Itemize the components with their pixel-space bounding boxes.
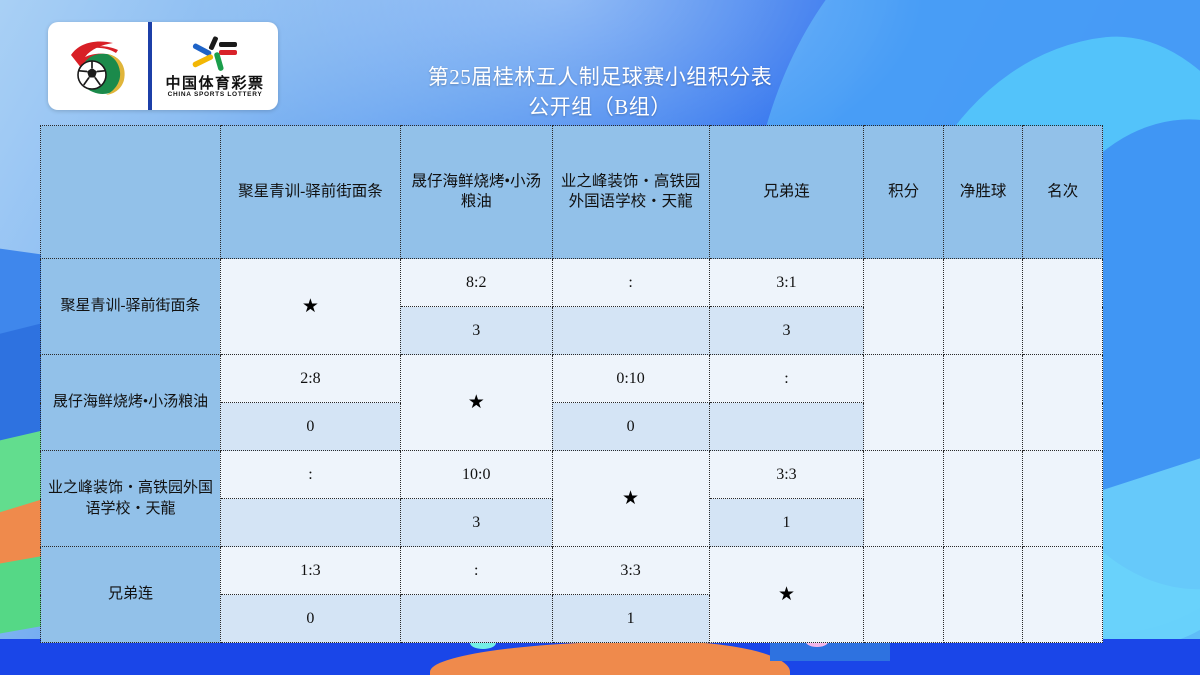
match-score-cell: 0:10 — [552, 355, 709, 403]
row-team-name: 晟仔海鲜烧烤•小汤粮油 — [41, 355, 221, 451]
table-row: 晟仔海鲜烧烤•小汤粮油2:8★0:10: — [41, 355, 1103, 403]
match-score-cell: 8:2 — [400, 259, 552, 307]
standings-table-container: 聚星青训-驿前街面条晟仔海鲜烧烤•小汤粮油业之峰装饰・高铁园外国语学校・天龍兄弟… — [40, 125, 1103, 643]
self-cell-star: ★ — [220, 259, 400, 355]
guilin-football-emblem-icon — [61, 33, 135, 99]
match-score-cell: 1:3 — [220, 547, 400, 595]
goal-difference-cell — [943, 355, 1023, 451]
rank-cell — [1023, 547, 1103, 643]
table-header-row: 聚星青训-驿前街面条晟仔海鲜烧烤•小汤粮油业之峰装饰・高铁园外国语学校・天龍兄弟… — [41, 126, 1103, 259]
match-score-cell: 3:3 — [709, 451, 864, 499]
bottom-orange-shape — [430, 641, 790, 675]
column-header-6: 净胜球 — [943, 126, 1023, 259]
table-corner-cell — [41, 126, 221, 259]
page-title: 第25届桂林五人制足球赛小组积分表 公开组（B组） — [290, 62, 910, 122]
lottery-name-cn: 中国体育彩票 — [165, 76, 264, 91]
table-row: 兄弟连1:3:3:3★ — [41, 547, 1103, 595]
match-score-cell: : — [220, 451, 400, 499]
rank-cell — [1023, 451, 1103, 547]
star-icon: ★ — [622, 488, 639, 509]
match-points-cell: 1 — [552, 595, 709, 643]
standings-table: 聚星青训-驿前街面条晟仔海鲜烧烤•小汤粮油业之峰装饰・高铁园外国语学校・天龍兄弟… — [40, 125, 1103, 643]
sponsor-logo-card: 中国体育彩票 CHINA SPORTS LOTTERY — [48, 22, 278, 110]
match-score-cell: : — [709, 355, 864, 403]
column-header-4: 兄弟连 — [709, 126, 864, 259]
row-team-name: 兄弟连 — [41, 547, 221, 643]
total-points-cell — [864, 451, 944, 547]
goal-difference-cell — [943, 451, 1023, 547]
match-points-cell — [709, 403, 864, 451]
row-team-name: 聚星青训-驿前街面条 — [41, 259, 221, 355]
match-score-cell: : — [400, 547, 552, 595]
self-cell-star: ★ — [400, 355, 552, 451]
match-score-cell: 3:1 — [709, 259, 864, 307]
goal-difference-cell — [943, 259, 1023, 355]
match-score-cell: : — [552, 259, 709, 307]
total-points-cell — [864, 547, 944, 643]
football-association-logo — [48, 22, 148, 110]
match-points-cell — [220, 499, 400, 547]
column-header-1: 聚星青训-驿前街面条 — [220, 126, 400, 259]
table-row: 业之峰装饰・高铁园外国语学校・天龍:10:0★3:3 — [41, 451, 1103, 499]
column-header-2: 晟仔海鲜烧烤•小汤粮油 — [400, 126, 552, 259]
goal-difference-cell — [943, 547, 1023, 643]
star-icon: ★ — [778, 584, 795, 605]
rank-cell — [1023, 259, 1103, 355]
match-points-cell: 3 — [400, 307, 552, 355]
self-cell-star: ★ — [552, 451, 709, 547]
total-points-cell — [864, 259, 944, 355]
column-header-5: 积分 — [864, 126, 944, 259]
slide-canvas: 中国体育彩票 CHINA SPORTS LOTTERY 第25届桂林五人制足球赛… — [0, 0, 1200, 675]
match-points-cell: 1 — [709, 499, 864, 547]
match-points-cell — [552, 307, 709, 355]
star-icon: ★ — [302, 296, 319, 317]
column-header-7: 名次 — [1023, 126, 1103, 259]
match-points-cell: 3 — [709, 307, 864, 355]
total-points-cell — [864, 355, 944, 451]
title-line-2: 公开组（B组） — [290, 92, 910, 122]
match-score-cell: 3:3 — [552, 547, 709, 595]
bottom-bar — [0, 639, 1200, 675]
title-line-1: 第25届桂林五人制足球赛小组积分表 — [290, 62, 910, 92]
lottery-name-en: CHINA SPORTS LOTTERY — [168, 92, 263, 99]
match-points-cell: 0 — [220, 595, 400, 643]
self-cell-star: ★ — [709, 547, 864, 643]
china-sports-lottery-logo: 中国体育彩票 CHINA SPORTS LOTTERY — [152, 22, 278, 110]
match-score-cell: 10:0 — [400, 451, 552, 499]
match-points-cell: 0 — [552, 403, 709, 451]
match-points-cell: 0 — [220, 403, 400, 451]
star-icon: ★ — [468, 392, 485, 413]
match-points-cell: 3 — [400, 499, 552, 547]
rank-cell — [1023, 355, 1103, 451]
column-header-3: 业之峰装饰・高铁园外国语学校・天龍 — [552, 126, 709, 259]
row-team-name: 业之峰装饰・高铁园外国语学校・天龍 — [41, 451, 221, 547]
match-score-cell: 2:8 — [220, 355, 400, 403]
sports-lottery-mark-icon — [179, 33, 251, 75]
match-points-cell — [400, 595, 552, 643]
table-row: 聚星青训-驿前街面条★8:2:3:1 — [41, 259, 1103, 307]
